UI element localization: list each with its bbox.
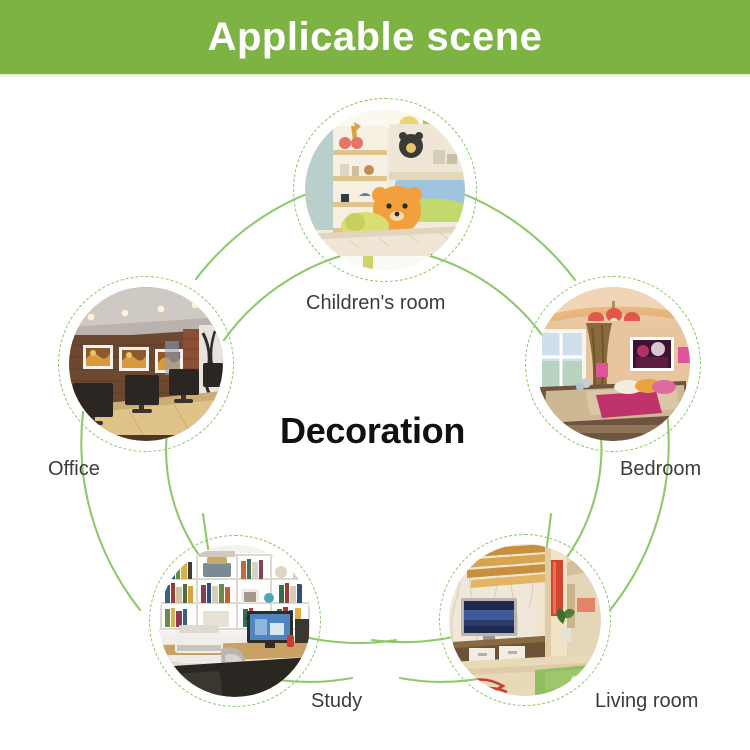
office-photo bbox=[69, 287, 223, 441]
node-childrens-room[interactable] bbox=[293, 98, 477, 282]
node-office[interactable] bbox=[58, 276, 234, 452]
scene-diagram: Children's room bbox=[0, 74, 750, 750]
page-title: Applicable scene bbox=[208, 17, 543, 57]
label-study: Study bbox=[311, 690, 362, 713]
center-title: Decoration bbox=[280, 410, 465, 452]
header-banner: Applicable scene bbox=[0, 0, 750, 74]
label-bedroom: Bedroom bbox=[620, 458, 701, 481]
node-study[interactable] bbox=[149, 535, 321, 707]
living-room-photo bbox=[449, 544, 601, 696]
label-office: Office bbox=[48, 458, 100, 481]
applicable-scene-infographic: Applicable scene bbox=[0, 0, 750, 750]
bedroom-photo bbox=[536, 287, 690, 441]
study-photo bbox=[159, 545, 311, 697]
node-living-room[interactable] bbox=[439, 534, 611, 706]
childrens-room-photo bbox=[305, 110, 465, 270]
label-living-room: Living room bbox=[595, 690, 698, 713]
node-bedroom[interactable] bbox=[525, 276, 701, 452]
label-childrens-room: Children's room bbox=[306, 292, 445, 315]
